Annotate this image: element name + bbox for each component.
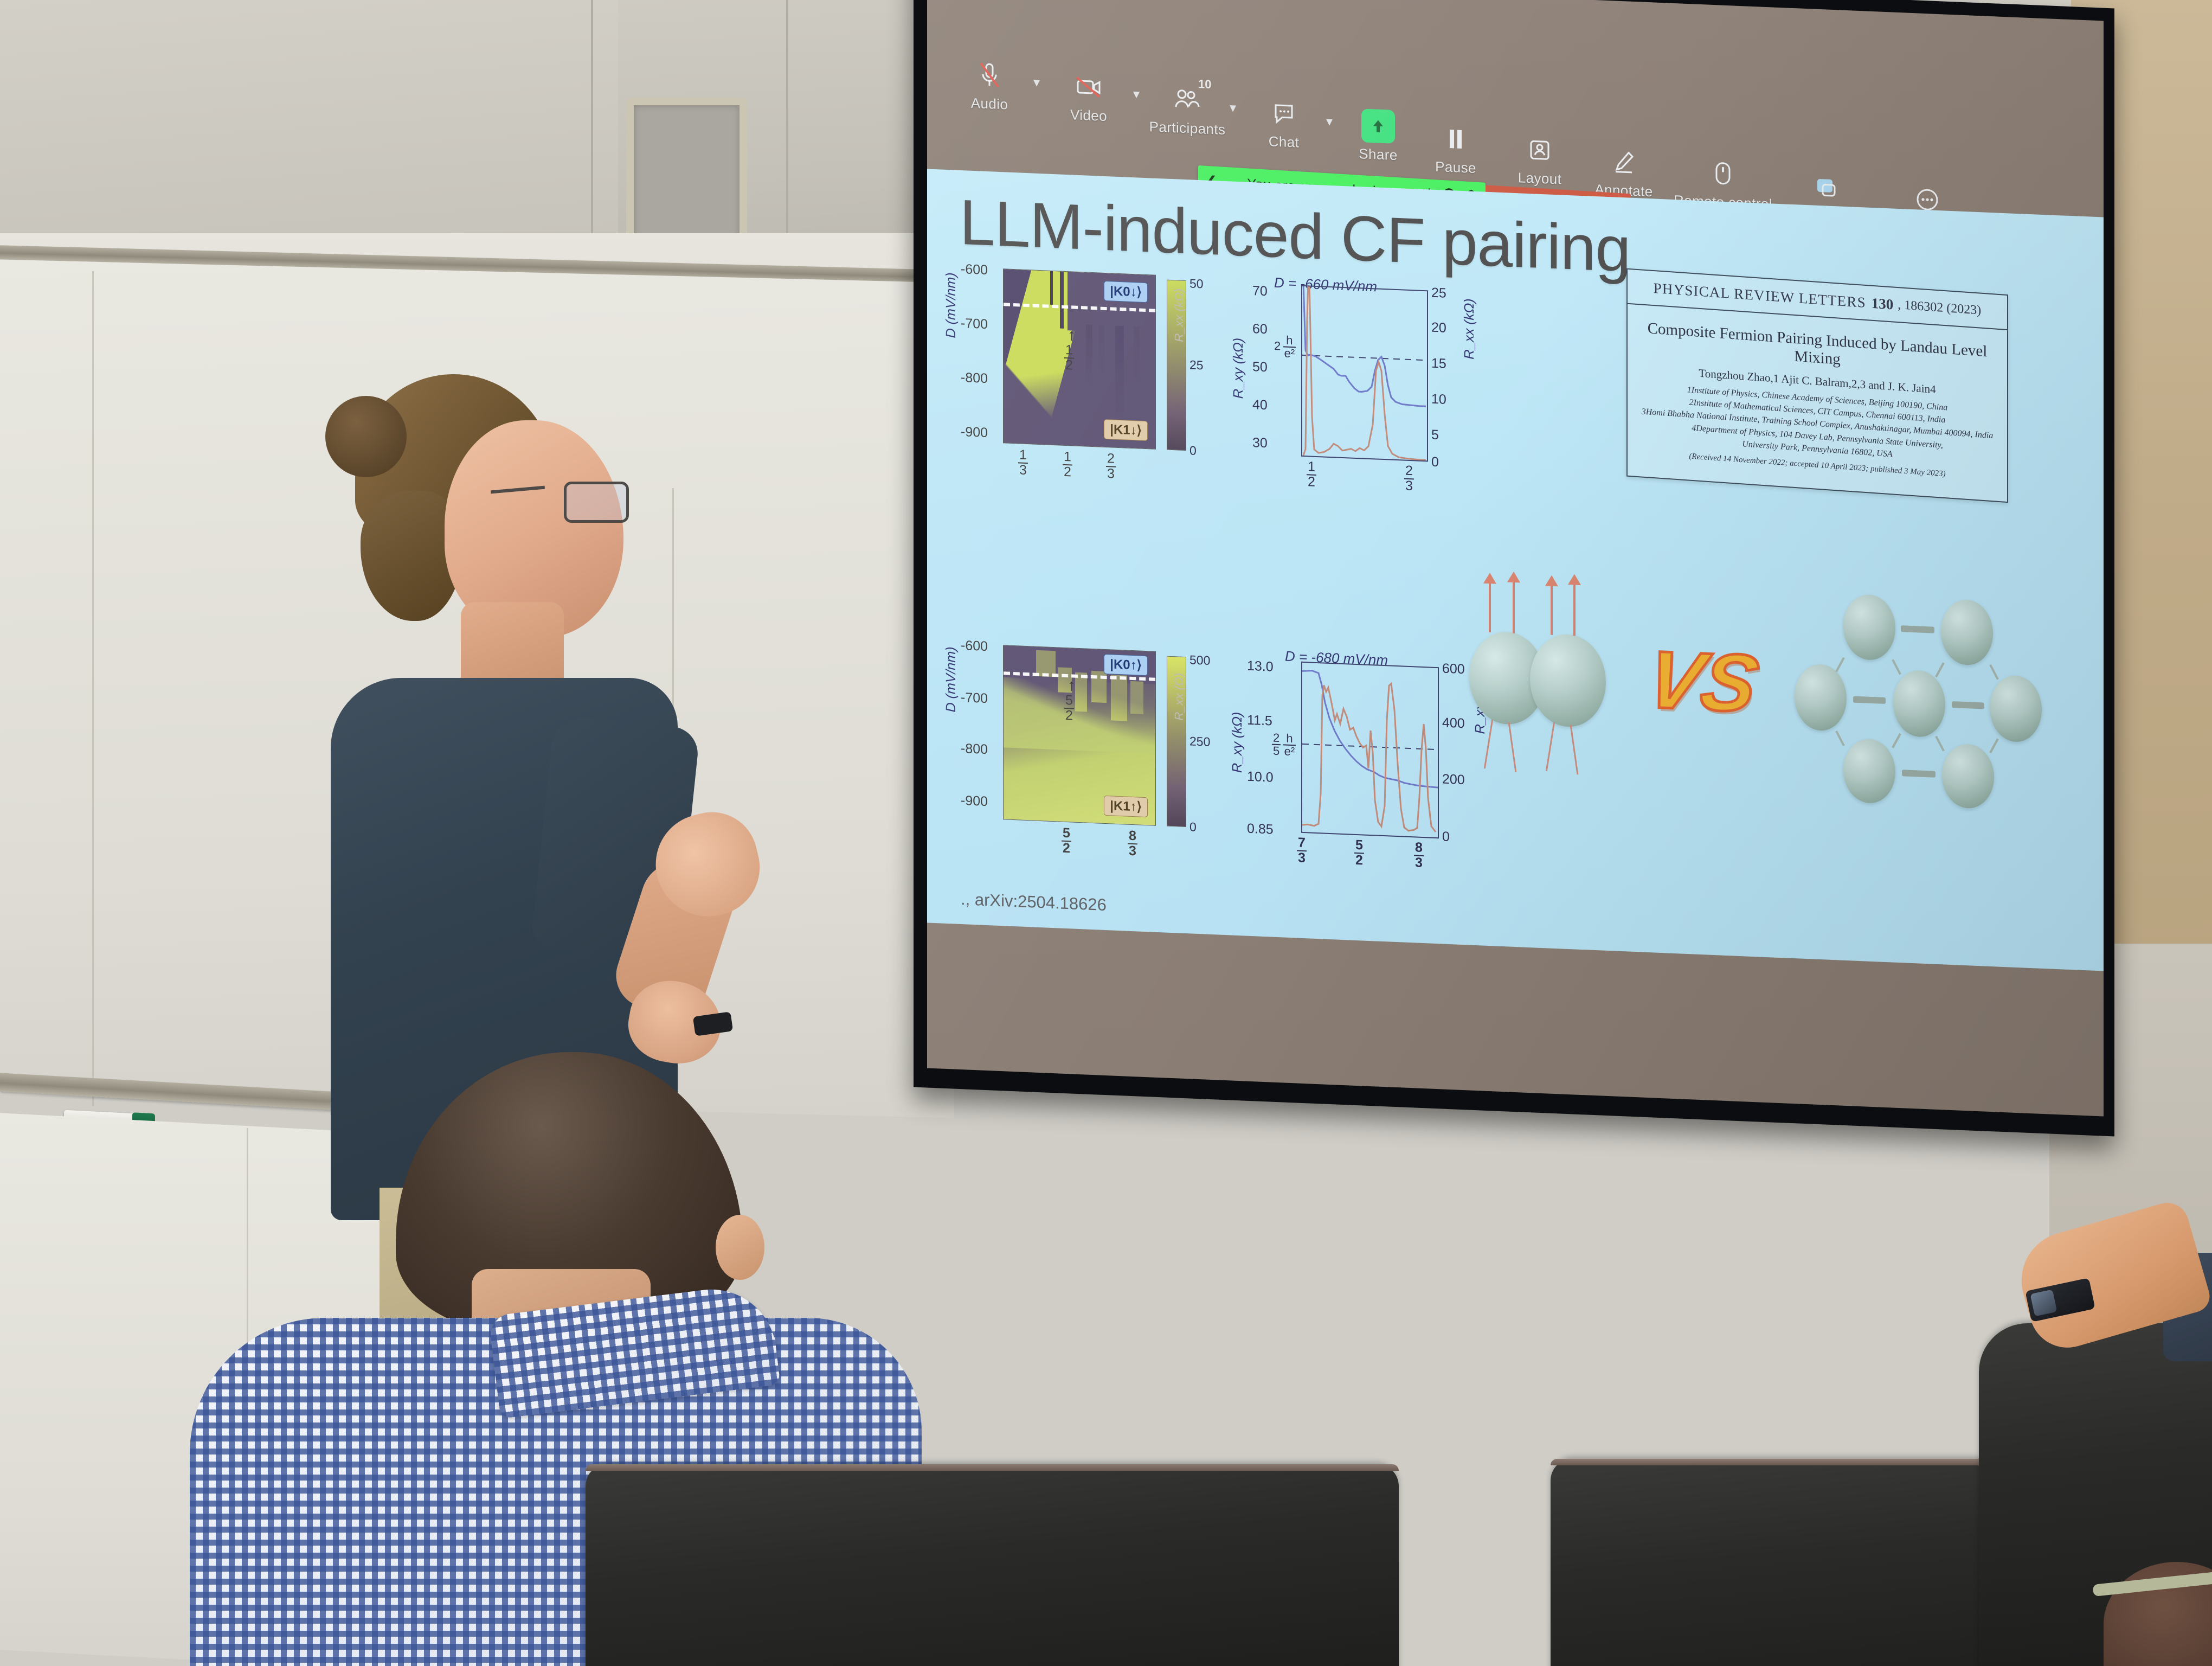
- y2-tick: 200: [1442, 771, 1465, 788]
- chevron-down-icon[interactable]: ▾: [1133, 86, 1140, 102]
- colorbar-tick: 250: [1189, 734, 1210, 749]
- y-tick: 40: [1252, 397, 1268, 413]
- y-axis-label: D (mV/nm): [943, 175, 959, 338]
- flux-arrow-icon: [1489, 581, 1491, 632]
- chevron-down-icon[interactable]: ▾: [1326, 114, 1333, 130]
- quantized-value-annotation: 2 he²: [1274, 334, 1296, 361]
- y-tick: 13.0: [1247, 658, 1274, 675]
- slide-reference: ., arXiv:2504.18626: [961, 889, 1107, 915]
- y-axis-label: R_xy (kΩ): [1231, 279, 1246, 399]
- toolbar-button-participants[interactable]: Participants: [1144, 81, 1231, 139]
- y-tick: 0.85: [1247, 821, 1274, 838]
- colorbar-label: R_xx (kΩ): [1172, 244, 1186, 342]
- chat-bubble-icon: [1240, 95, 1327, 132]
- colorbar-tick: 25: [1189, 357, 1204, 373]
- upper-wall-panel-left: [0, 0, 618, 260]
- lattice-bond: [1835, 731, 1845, 746]
- y-tick: -800: [961, 370, 988, 387]
- pause-icon: [1412, 120, 1499, 158]
- toolbar-label: Share: [1335, 144, 1422, 165]
- colorbar-tick: 500: [1189, 652, 1210, 668]
- lattice-sphere: [1942, 743, 1994, 809]
- flux-leg: [1546, 722, 1555, 771]
- y2-tick: 10: [1431, 392, 1446, 408]
- pen-icon: [1580, 144, 1667, 181]
- y-tick: 70: [1252, 283, 1268, 299]
- y-axis-label: R_xy (kΩ): [1230, 653, 1245, 773]
- colorbar-label: R_xx (Ω): [1172, 628, 1186, 721]
- chair-trim: [586, 1464, 1399, 1471]
- x-tick: 13: [1018, 448, 1028, 477]
- vs-comparison-graphic: VS: [1469, 566, 2066, 823]
- lattice-bond: [1902, 770, 1935, 778]
- panel-seam: [786, 0, 788, 260]
- toolbar-label: Layout: [1496, 169, 1583, 189]
- filling-annotation: 12: [1064, 343, 1074, 373]
- chevron-down-icon[interactable]: ▾: [1230, 100, 1236, 116]
- y-tick: -900: [961, 793, 988, 810]
- toolbar-label: Pause: [1412, 157, 1499, 178]
- lattice-bond: [1989, 664, 1999, 680]
- watch-face: [2030, 1290, 2057, 1317]
- toolbar-button-chat[interactable]: Chat: [1240, 95, 1327, 152]
- state-label-k1-up: |K1↑⟩: [1104, 796, 1148, 817]
- glasses-lens: [564, 482, 629, 523]
- panel-seam: [591, 0, 593, 255]
- state-label-k0-up: |K0↑⟩: [1104, 654, 1148, 676]
- share-screen-up-arrow-icon: [1361, 108, 1395, 144]
- lattice-sphere: [1990, 675, 2042, 743]
- lattice-bond: [1853, 696, 1886, 704]
- projector-screen: Audio ▾ Video ▾: [927, 0, 2104, 1117]
- lattice-sphere: [1795, 663, 1847, 732]
- presenter-glasses: [529, 482, 629, 521]
- flux-leg: [1508, 722, 1517, 772]
- lattice-bond: [1989, 738, 1999, 753]
- y-axis-label: D (mV/nm): [943, 549, 959, 713]
- y2-tick: 5: [1431, 427, 1439, 444]
- lattice-sphere: [1843, 738, 1895, 804]
- lattice-sphere: [1941, 599, 1993, 666]
- state-label-k1-down: |K1↓⟩: [1104, 419, 1148, 441]
- x-tick: 52: [1354, 838, 1364, 868]
- auditorium-chair: [586, 1464, 1399, 1666]
- plot-area: [1301, 662, 1439, 838]
- paper-citation-card: PHYSICAL REVIEW LETTERS 130 , 186302 (20…: [1626, 268, 2008, 503]
- audience-ear: [716, 1215, 764, 1280]
- flux-leg: [1570, 725, 1579, 774]
- y-tick: 30: [1252, 435, 1268, 451]
- lattice-bond: [1935, 662, 1945, 677]
- journal-name: PHYSICAL REVIEW LETTERS: [1654, 280, 1866, 311]
- toolbar-button-video[interactable]: Video: [1045, 68, 1132, 126]
- y2-tick: 400: [1442, 715, 1465, 732]
- whiteboard-seam: [92, 271, 94, 1106]
- y2-tick: 25: [1431, 285, 1446, 302]
- x-tick: 23: [1404, 464, 1414, 494]
- toolbar-label: Participants: [1144, 118, 1231, 139]
- y-tick: 11.5: [1247, 713, 1272, 729]
- journal-volume: 130: [1872, 294, 1894, 313]
- y2-tick: 0: [1431, 454, 1439, 471]
- y-tick: 50: [1252, 359, 1268, 375]
- y-tick: 10.0: [1247, 769, 1274, 786]
- presenter-hair-bun: [325, 396, 407, 477]
- y2-tick: 600: [1442, 661, 1465, 677]
- layout-icon: [1496, 132, 1583, 169]
- toolbar-label: Audio: [946, 94, 1033, 114]
- y-tick: -800: [961, 741, 988, 758]
- filling-annotation: 52: [1064, 694, 1074, 723]
- toolbar-button-share[interactable]: Share: [1335, 107, 1422, 165]
- camera-off-icon: [1045, 68, 1132, 106]
- composite-fermion-sphere: [1530, 633, 1606, 728]
- flux-arrow-icon: [1551, 584, 1553, 635]
- x-tick: 52: [1062, 826, 1071, 856]
- lecture-room-photo: Audio ▾ Video ▾: [0, 0, 2212, 1666]
- y2-tick: 15: [1431, 356, 1446, 372]
- lattice-bond: [1892, 733, 1901, 748]
- lattice-bond: [1835, 657, 1845, 672]
- toolbar-button-audio[interactable]: Audio: [946, 57, 1033, 114]
- x-tick: 73: [1297, 836, 1307, 865]
- colorbar-tick: 50: [1189, 276, 1204, 291]
- participants-count-badge: 10: [1198, 77, 1211, 92]
- lattice-bond: [1892, 659, 1901, 675]
- toolbar-label: Video: [1045, 105, 1132, 126]
- journal-article-id: , 186302 (2023): [1898, 298, 1981, 318]
- flux-arrow-icon: [1513, 580, 1515, 633]
- lattice-bond: [1952, 701, 1984, 709]
- toolbar-button-pause[interactable]: Pause: [1412, 120, 1499, 178]
- y2-axis-label: R_xx (kΩ): [1462, 251, 1477, 360]
- toolbar-label: Chat: [1240, 132, 1327, 152]
- x-tick: 83: [1414, 841, 1424, 870]
- y-tick: -600: [961, 638, 988, 655]
- presentation-slide: LLM-induced CF pairing D (mV/nm) -600 -7…: [927, 169, 2104, 971]
- flux-arrow-icon: [1573, 582, 1576, 636]
- participants-icon: [1144, 81, 1231, 119]
- x-tick: 12: [1307, 460, 1316, 489]
- colorbar-tick: 0: [1189, 443, 1197, 458]
- y-tick: 60: [1252, 321, 1268, 337]
- lattice-bond: [1901, 625, 1934, 633]
- y-tick: -600: [961, 261, 988, 278]
- mouse-icon: [1669, 155, 1777, 193]
- vs-label: VS: [1640, 633, 1765, 731]
- plot-area: [1301, 285, 1428, 462]
- x-tick: 83: [1128, 829, 1137, 858]
- flux-leg: [1484, 720, 1493, 769]
- lattice-sphere: [1843, 594, 1895, 661]
- state-label-k0-down: |K0↓⟩: [1104, 281, 1148, 303]
- colorbar-tick: 0: [1189, 819, 1197, 835]
- chevron-down-icon[interactable]: ▾: [1033, 75, 1040, 91]
- microphone-muted-icon: [946, 57, 1033, 94]
- toolbar-button-layout[interactable]: Layout: [1496, 132, 1583, 189]
- y2-tick: 20: [1431, 320, 1446, 336]
- y2-tick: 0: [1442, 829, 1450, 845]
- y-tick: -700: [961, 316, 988, 332]
- quantized-value-annotation: 25 he²: [1272, 732, 1296, 759]
- window-icon: [1773, 169, 1881, 207]
- lattice-sphere: [1893, 670, 1945, 738]
- y-tick: -900: [961, 424, 988, 441]
- lattice-bond: [1935, 736, 1945, 752]
- x-tick: 23: [1106, 452, 1116, 481]
- y-tick: -700: [961, 690, 988, 707]
- heatmap-canvas: |K0↓⟩ |K1↓⟩ ↑ 12: [1003, 268, 1156, 450]
- heatmap-canvas: |K0↑⟩ |K1↑⟩ ↑ 52: [1003, 645, 1156, 826]
- x-tick: 12: [1063, 450, 1072, 479]
